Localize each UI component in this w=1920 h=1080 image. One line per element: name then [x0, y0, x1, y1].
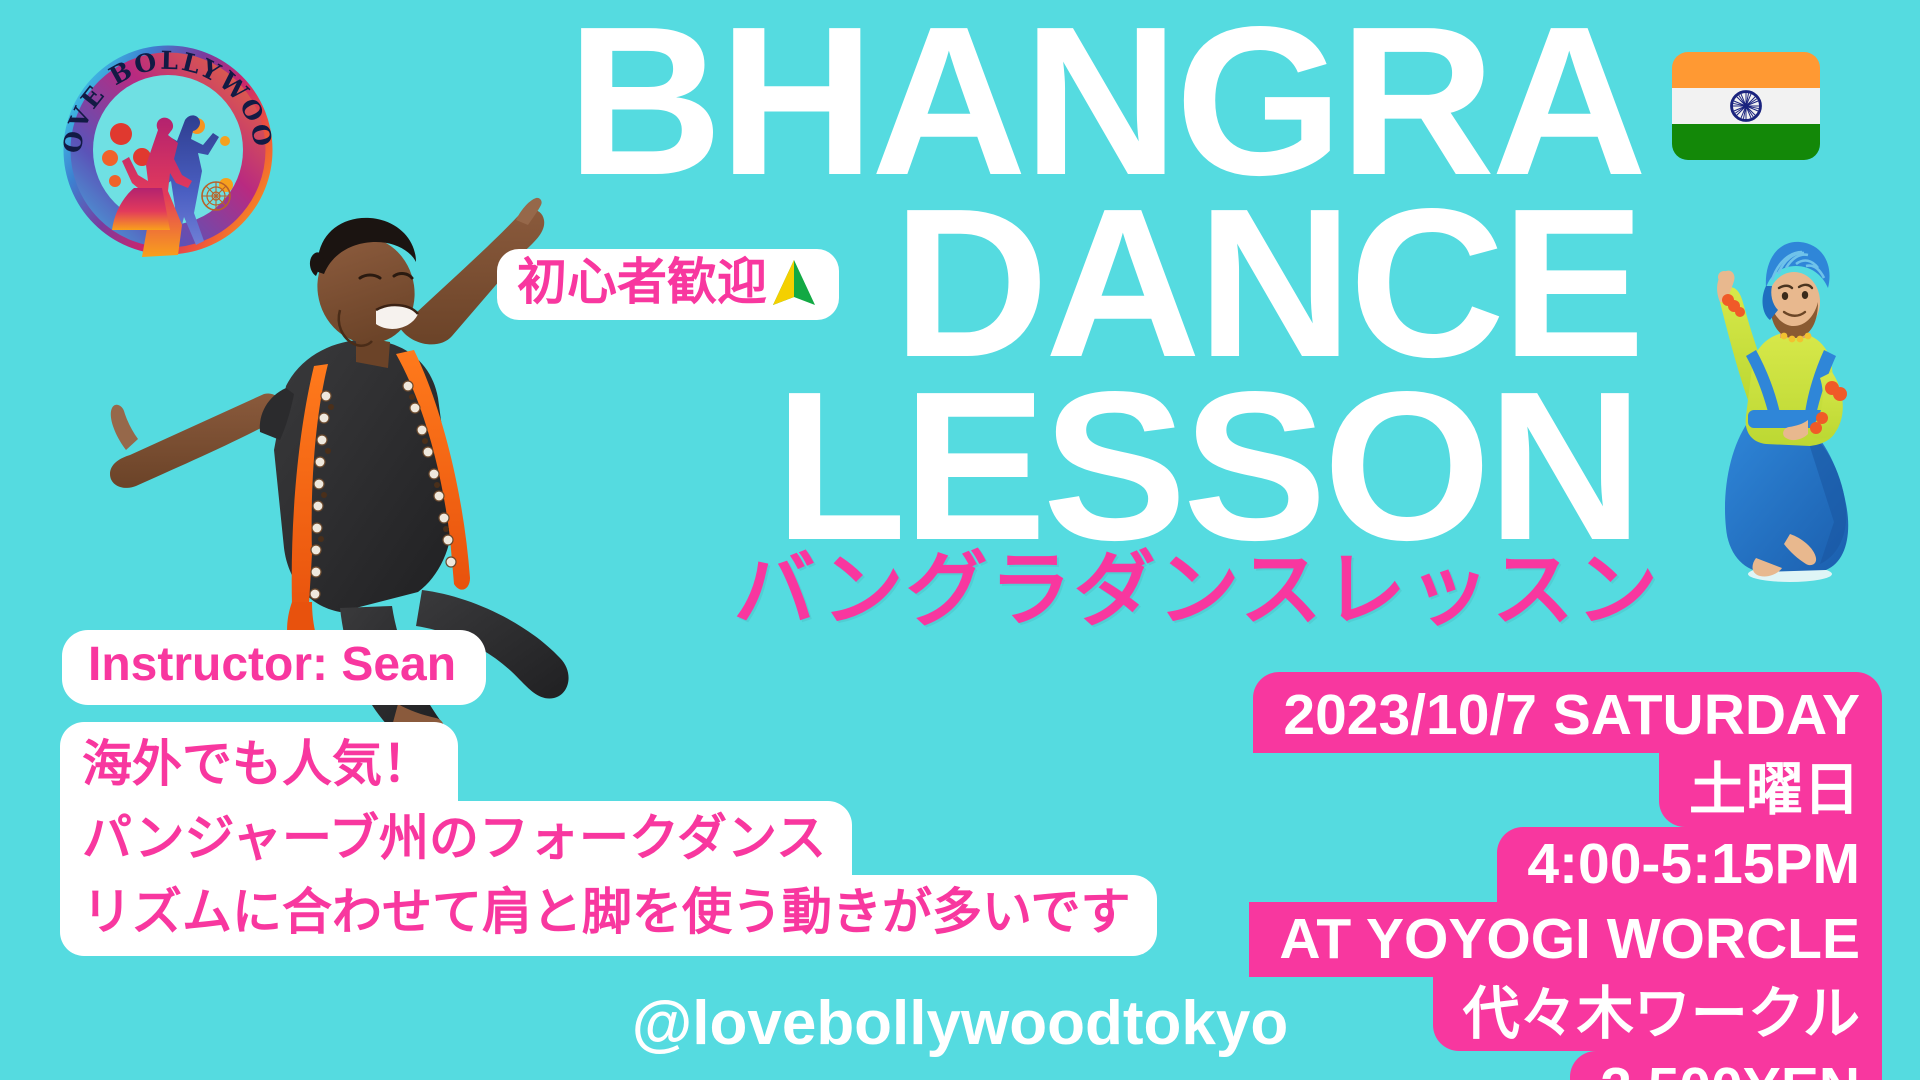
- ashoka-chakra-icon: [1729, 89, 1763, 123]
- flag-band-white: [1672, 88, 1820, 124]
- beginner-welcome-badge: 初心者歓迎: [497, 249, 839, 320]
- social-handle[interactable]: @lovebollywoodtokyo: [0, 988, 1920, 1059]
- description-line-3: リズムに合わせて肩と脚を使う動きが多いです: [60, 875, 1157, 956]
- beginner-badge-label: 初心者歓迎: [517, 256, 767, 309]
- description-block: 海外でも人気！ パンジャーブ州のフォークダンス リズムに合わせて肩と脚を使う動き…: [60, 722, 1157, 956]
- flag-band-green: [1672, 124, 1820, 160]
- description-line-1: 海外でも人気！: [60, 722, 458, 801]
- flyer-canvas: LOVE BOLLYWOOD: [0, 0, 1920, 1080]
- instructor-badge-label: Instructor: Sean: [88, 638, 456, 691]
- event-date: 2023/10/7 SATURDAY: [1253, 672, 1882, 753]
- instructor-badge: Instructor: Sean: [62, 630, 486, 705]
- title-line-3: LESSON: [497, 375, 1680, 557]
- event-time: 4:00-5:15PM: [1497, 827, 1882, 902]
- flag-band-saffron: [1672, 52, 1820, 88]
- japanese-subtitle: バングラダンスレッスン: [0, 546, 1660, 636]
- india-flag-icon: [1672, 52, 1820, 160]
- event-day-jp: 土曜日: [1659, 753, 1882, 828]
- event-venue-en: AT YOYOGI WORCLE: [1249, 902, 1882, 977]
- bhangra-dancer-illustration: [1686, 222, 1896, 584]
- shoshinsha-beginner-mark-icon: [769, 257, 819, 309]
- description-line-2: パンジャーブ州のフォークダンス: [60, 801, 852, 875]
